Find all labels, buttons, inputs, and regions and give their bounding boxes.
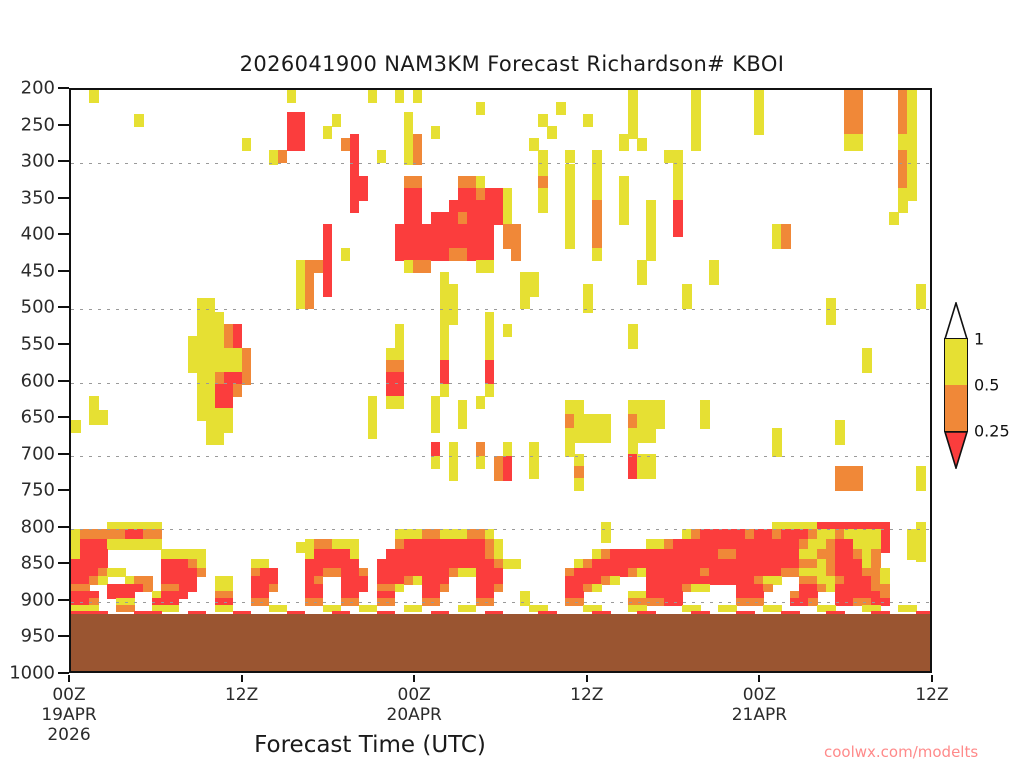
heatmap-cell (673, 164, 683, 177)
heatmap-cell (485, 260, 495, 273)
heatmap-cell (619, 200, 629, 213)
heatmap-cell (449, 298, 459, 313)
heatmap-cell (278, 150, 288, 163)
y-tick-mark (58, 635, 69, 637)
heatmap-cell (592, 176, 602, 189)
heatmap-cell (835, 432, 845, 445)
heatmap-cell (781, 236, 791, 249)
y-tick-mark (58, 526, 69, 528)
heatmap-cell (844, 90, 863, 113)
heatmap-cell (772, 428, 782, 443)
heatmap-cell (907, 188, 917, 201)
y-tick-mark (58, 489, 69, 491)
heatmap-cell (485, 248, 495, 261)
heatmap-cell (413, 200, 423, 213)
heatmap-cell (332, 114, 342, 127)
heatmap-cell (538, 176, 548, 189)
heatmap-cell (224, 408, 234, 421)
heatmap-cell (673, 176, 683, 189)
heatmap-cell (242, 372, 252, 385)
heatmap-cell (898, 200, 908, 213)
heatmap-cell (503, 468, 513, 481)
y-tick-label: 400 (21, 224, 55, 245)
heatmap-cell (601, 522, 611, 533)
heatmap-cell (440, 372, 450, 385)
heatmap-cell (529, 138, 539, 151)
heatmap-cell (916, 478, 926, 491)
heatmap-cell (368, 90, 378, 103)
heatmap-cell (592, 224, 602, 237)
y-tick-label: 650 (21, 407, 55, 428)
y-tick-mark (58, 87, 69, 89)
heatmap-cell (413, 90, 423, 103)
y-tick-mark (58, 306, 69, 308)
heatmap-cell (907, 539, 917, 550)
x-axis-title: Forecast Time (UTC) (0, 732, 740, 758)
heatmap-cell (395, 396, 405, 409)
y-tick-mark (58, 416, 69, 418)
heatmap-cell (305, 296, 315, 309)
heatmap-cell (628, 324, 638, 337)
heatmap-cell (637, 260, 647, 273)
heatmap-cell (98, 410, 108, 425)
heatmap-cell (323, 126, 333, 139)
x-tick-label-time: 12Z (225, 685, 258, 705)
heatmap-cell (853, 478, 863, 491)
heatmap-cell (601, 532, 611, 543)
y-tick-label: 750 (21, 480, 55, 501)
heatmap-cell (233, 324, 243, 337)
heatmap-cell (485, 360, 495, 373)
heatmap-cell (485, 372, 495, 385)
colorbar-legend: 1 0.5 0.25 (938, 300, 1024, 470)
heatmap-cell (673, 212, 683, 225)
heatmap-cell (449, 442, 459, 457)
heatmap-cell (269, 150, 279, 165)
heatmap-cell (233, 336, 243, 349)
y-tick-mark (58, 270, 69, 272)
heatmap-cell (529, 466, 539, 479)
heatmap-cell (440, 272, 450, 285)
heatmap-cell (583, 298, 593, 313)
y-tick-label: 350 (21, 187, 55, 208)
heatmap-cell (628, 112, 638, 135)
heatmap-cell (494, 549, 504, 560)
heatmap-cell (511, 559, 521, 569)
heatmap-cell (646, 248, 656, 261)
heatmap-cell (592, 150, 602, 165)
heatmap-cell (637, 272, 647, 285)
heatmap-cell (485, 384, 495, 397)
heatmap-cell (691, 134, 701, 151)
heatmap-cell (242, 360, 252, 373)
heatmap-cell (565, 236, 575, 249)
heatmap-cell (916, 296, 926, 309)
heatmap-cell (628, 90, 638, 113)
heatmap-cell (287, 90, 297, 103)
chart-title: 2026041900 NAM3KM Forecast Richardson# K… (0, 52, 1024, 76)
heatmap-cell (296, 112, 306, 135)
heatmap-cell (871, 529, 881, 540)
heatmap-cell (449, 468, 459, 481)
heatmap-cell (772, 576, 782, 585)
colorbar-label-1: 1 (974, 330, 984, 349)
heatmap-cell (503, 442, 513, 457)
heatmap-cell (880, 598, 890, 606)
y-tick-mark (58, 233, 69, 235)
heatmap-cell (655, 414, 665, 429)
heatmap-cell (673, 150, 683, 165)
heatmap-cell (440, 384, 450, 397)
y-tick-mark (58, 599, 69, 601)
heatmap-cell (449, 456, 459, 469)
heatmap-cell (503, 212, 513, 225)
colorbar-segment-yellow (945, 339, 967, 385)
heatmap-cell (440, 348, 450, 361)
heatmap-cell (224, 420, 234, 433)
heatmap-cell (440, 584, 450, 592)
heatmap-cell (916, 542, 926, 553)
heatmap-cell (296, 134, 306, 151)
heatmap-cell (907, 529, 917, 540)
y-tick-label: 800 (21, 516, 55, 537)
heatmap-cell (592, 212, 602, 225)
x-tick-label: 12Z (570, 685, 603, 705)
heatmap-cell (592, 188, 602, 201)
heatmap-cell (197, 549, 207, 560)
heatmap-cell (754, 112, 764, 135)
x-tick-label-time: 00Z (732, 685, 787, 705)
heatmap-cell (529, 272, 539, 285)
x-tick-label: 12Z (225, 685, 258, 705)
heatmap-cell (350, 549, 360, 560)
heatmap-cell (646, 212, 656, 225)
heatmap-cell (907, 112, 917, 135)
heatmap-cell (862, 348, 872, 361)
heatmap-cell (574, 466, 584, 479)
heatmap-cell (529, 442, 539, 455)
heatmap-cell (763, 584, 773, 592)
heatmap-cell (907, 164, 917, 177)
heatmap-cell (646, 200, 656, 213)
heatmap-cell (323, 260, 333, 273)
y-tick-label: 850 (21, 553, 55, 574)
y-tick-mark (58, 124, 69, 126)
heatmap-cell (323, 236, 333, 249)
heatmap-cell (565, 150, 575, 163)
y-tick-mark (58, 160, 69, 162)
colorbar-label-025: 0.25 (974, 422, 1010, 441)
y-axis: 2002503003504004505005506006507007508008… (0, 88, 69, 673)
heatmap-cell (179, 591, 189, 599)
heatmap-cell (700, 400, 710, 415)
heatmap-cell (592, 164, 602, 177)
heatmap-cell (673, 188, 683, 201)
heatmap-cell (413, 188, 423, 201)
heatmap-cell (494, 584, 504, 592)
x-tick-label-time: 00Z (41, 685, 96, 705)
heatmap-cell (89, 90, 99, 103)
heatmap-cell (413, 212, 423, 225)
heatmap-cell (503, 324, 513, 337)
heatmap-cell (134, 114, 144, 127)
heatmap-cell (529, 284, 539, 297)
x-tick-mark (758, 675, 760, 682)
heatmap-cell (476, 102, 486, 115)
heatmap-cell (458, 414, 468, 429)
heatmap-cell (538, 200, 548, 213)
chart-root: 2026041900 NAM3KM Forecast Richardson# K… (0, 0, 1024, 768)
x-tick-label-time: 12Z (570, 685, 603, 705)
heatmap-cell (619, 134, 629, 151)
heatmap-cell (485, 348, 495, 361)
heatmap-cell (691, 112, 701, 135)
heatmap-cell (197, 568, 207, 577)
heatmap-cell (224, 396, 234, 409)
heatmap-cell (916, 466, 926, 479)
heatmap-cell (485, 324, 495, 337)
heatmap-cell (215, 432, 225, 445)
heatmap-cell (565, 164, 575, 177)
colorbar-segment-orange (945, 385, 967, 431)
heatmap-cell (601, 428, 611, 443)
heatmap-cell (709, 272, 719, 285)
y-tick-mark (58, 453, 69, 455)
heatmap-cell (916, 532, 926, 543)
heatmap-cell (907, 134, 917, 151)
heatmap-cell (413, 605, 423, 612)
heatmap-cell (565, 200, 575, 213)
heatmap-cell (619, 212, 629, 225)
heatmap-cell (601, 414, 611, 429)
heatmap-cell (431, 456, 441, 469)
heatmap-cell (458, 400, 468, 415)
heatmap-cell (871, 539, 881, 550)
heatmap-cell (916, 522, 926, 533)
heatmap-cell (574, 454, 584, 467)
heatmap-cell (538, 150, 548, 165)
heatmap-cell (610, 576, 620, 585)
heatmap-cell (188, 584, 198, 592)
heatmap-cell (592, 584, 602, 592)
heatmap-cell (431, 598, 441, 606)
y-tick-mark (58, 562, 69, 564)
heatmap-cell (781, 224, 791, 237)
colorbar-arrow-down-icon (944, 431, 968, 469)
y-tick-label: 250 (21, 114, 55, 135)
y-tick-label: 300 (21, 151, 55, 172)
x-tick-label-time: 12Z (915, 685, 948, 705)
heatmap-cell (619, 176, 629, 189)
heatmap-cell (395, 360, 405, 373)
heatmap-cell (233, 384, 243, 397)
heatmap-cell (431, 126, 441, 139)
heatmap-cell (395, 348, 405, 361)
plot-area (69, 88, 932, 673)
heatmap-cells (71, 90, 930, 671)
heatmap-cell (628, 336, 638, 349)
heatmap-cell (871, 549, 881, 560)
heatmap-cell (916, 552, 926, 562)
heatmap-cell (826, 312, 836, 325)
heatmap-cell (449, 284, 459, 299)
heatmap-cell (242, 348, 252, 361)
heatmap-cell (592, 248, 602, 261)
terrain-fill (71, 614, 930, 673)
heatmap-cell (206, 298, 216, 313)
heatmap-cell (583, 284, 593, 299)
heatmap-cell (556, 102, 566, 115)
heatmap-cell (422, 260, 432, 273)
heatmap-cell (98, 549, 108, 560)
heatmap-cell (485, 236, 495, 249)
heatmap-cell (368, 424, 378, 439)
heatmap-cell (880, 542, 890, 553)
heatmap-cell (862, 360, 872, 373)
heatmap-cell (413, 176, 423, 189)
heatmap-cell (646, 454, 656, 467)
heatmap-cell (646, 466, 656, 479)
x-tick-mark (931, 675, 933, 682)
x-tick-label-time: 00Z (387, 685, 442, 705)
watermark: coolwx.com/modelts (824, 743, 978, 761)
heatmap-cell (350, 539, 360, 550)
heatmap-cell (323, 224, 333, 237)
y-tick-mark (58, 197, 69, 199)
heatmap-cell (350, 164, 360, 177)
heatmap-cell (449, 312, 459, 325)
heatmap-cell (440, 324, 450, 337)
heatmap-cell (350, 150, 360, 165)
heatmap-cell (503, 456, 513, 469)
heatmap-cell (440, 336, 450, 349)
heatmap-cell (413, 134, 423, 151)
colorbar-label-05: 0.5 (974, 376, 999, 395)
heatmap-cell (574, 478, 584, 491)
heatmap-cell (691, 90, 701, 113)
heatmap-cell (520, 296, 530, 309)
heatmap-cell (646, 236, 656, 249)
heatmap-cell (431, 396, 441, 409)
heatmap-cell (511, 248, 521, 261)
heatmap-cell (754, 90, 764, 113)
x-tick-label: 00Z21APR (732, 685, 787, 725)
y-tick-mark (58, 672, 69, 674)
heatmap-cell (269, 584, 279, 592)
heatmap-cell (907, 176, 917, 189)
heatmap-cell (395, 90, 405, 103)
x-tick-mark (241, 675, 243, 682)
heatmap-cell (395, 384, 405, 397)
heatmap-cell (503, 200, 513, 213)
y-tick-label: 500 (21, 297, 55, 318)
heatmap-cell (323, 284, 333, 297)
heatmap-cell (485, 336, 495, 349)
heatmap-cell (646, 428, 656, 443)
heatmap-cell (170, 605, 180, 612)
heatmap-cell (547, 126, 557, 139)
heatmap-cell (673, 200, 683, 213)
heatmap-cell (431, 420, 441, 433)
heatmap-cell (359, 188, 369, 201)
heatmap-cell (485, 598, 495, 606)
heatmap-cell (700, 584, 710, 592)
heatmap-cell (467, 605, 477, 612)
heatmap-cell (565, 176, 575, 189)
heatmap-cell (341, 248, 351, 261)
heatmap-cell (592, 236, 602, 249)
heatmap-cell (655, 400, 665, 415)
heatmap-cell (511, 224, 521, 237)
heatmap-cell (476, 396, 486, 409)
heatmap-cell (350, 134, 360, 151)
heatmap-cell (889, 212, 899, 225)
x-tick-label: 00Z20APR (387, 685, 442, 725)
heatmap-cell (305, 272, 315, 285)
heatmap-cell (529, 454, 539, 467)
heatmap-cell (826, 298, 836, 313)
y-tick-mark (58, 380, 69, 382)
heatmap-cell (907, 549, 917, 560)
heatmap-cell (395, 372, 405, 385)
heatmap-cell (565, 188, 575, 201)
x-tick-mark (68, 675, 70, 682)
heatmap-cell (565, 224, 575, 237)
heatmap-cell (700, 414, 710, 429)
heatmap-cell (907, 150, 917, 165)
heatmap-cell (503, 188, 513, 201)
colorbar-arrow-up-icon (944, 302, 968, 340)
heatmap-cell (682, 296, 692, 309)
heatmap-cell (89, 396, 99, 411)
heatmap-cell (485, 312, 495, 325)
heatmap-cell (574, 400, 584, 415)
x-tick-mark (586, 675, 588, 682)
heatmap-cell (368, 396, 378, 411)
heatmap-cell (511, 236, 521, 249)
colorbar-bar (944, 338, 968, 432)
heatmap-cell (476, 442, 486, 457)
x-tick-mark (413, 675, 415, 682)
heatmap-cell (494, 539, 504, 550)
heatmap-cell (583, 114, 593, 127)
heatmap-cell (772, 442, 782, 457)
heatmap-cell (305, 284, 315, 297)
heatmap-cell (386, 598, 396, 606)
x-tick-label-date: 19APR (41, 705, 96, 725)
heatmap-cell (242, 138, 252, 151)
heatmap-cell (709, 260, 719, 273)
heatmap-cell (413, 150, 423, 165)
heatmap-cell (844, 112, 863, 135)
heatmap-cell (916, 284, 926, 297)
heatmap-cell (637, 138, 647, 151)
y-tick-label: 950 (21, 626, 55, 647)
heatmap-cell (377, 150, 387, 163)
heatmap-cell (323, 248, 333, 261)
heatmap-cell (431, 442, 441, 457)
heatmap-cell (844, 134, 863, 151)
heatmap-cell (476, 176, 486, 189)
heatmap-cell (592, 200, 602, 213)
heatmap-cell (619, 188, 629, 201)
x-tick-label: 12Z (915, 685, 948, 705)
heatmap-cell (538, 164, 548, 177)
x-tick-label-date: 21APR (732, 705, 787, 725)
heatmap-cell (152, 539, 162, 550)
heatmap-cell (440, 360, 450, 373)
heatmap-cell (71, 420, 81, 433)
